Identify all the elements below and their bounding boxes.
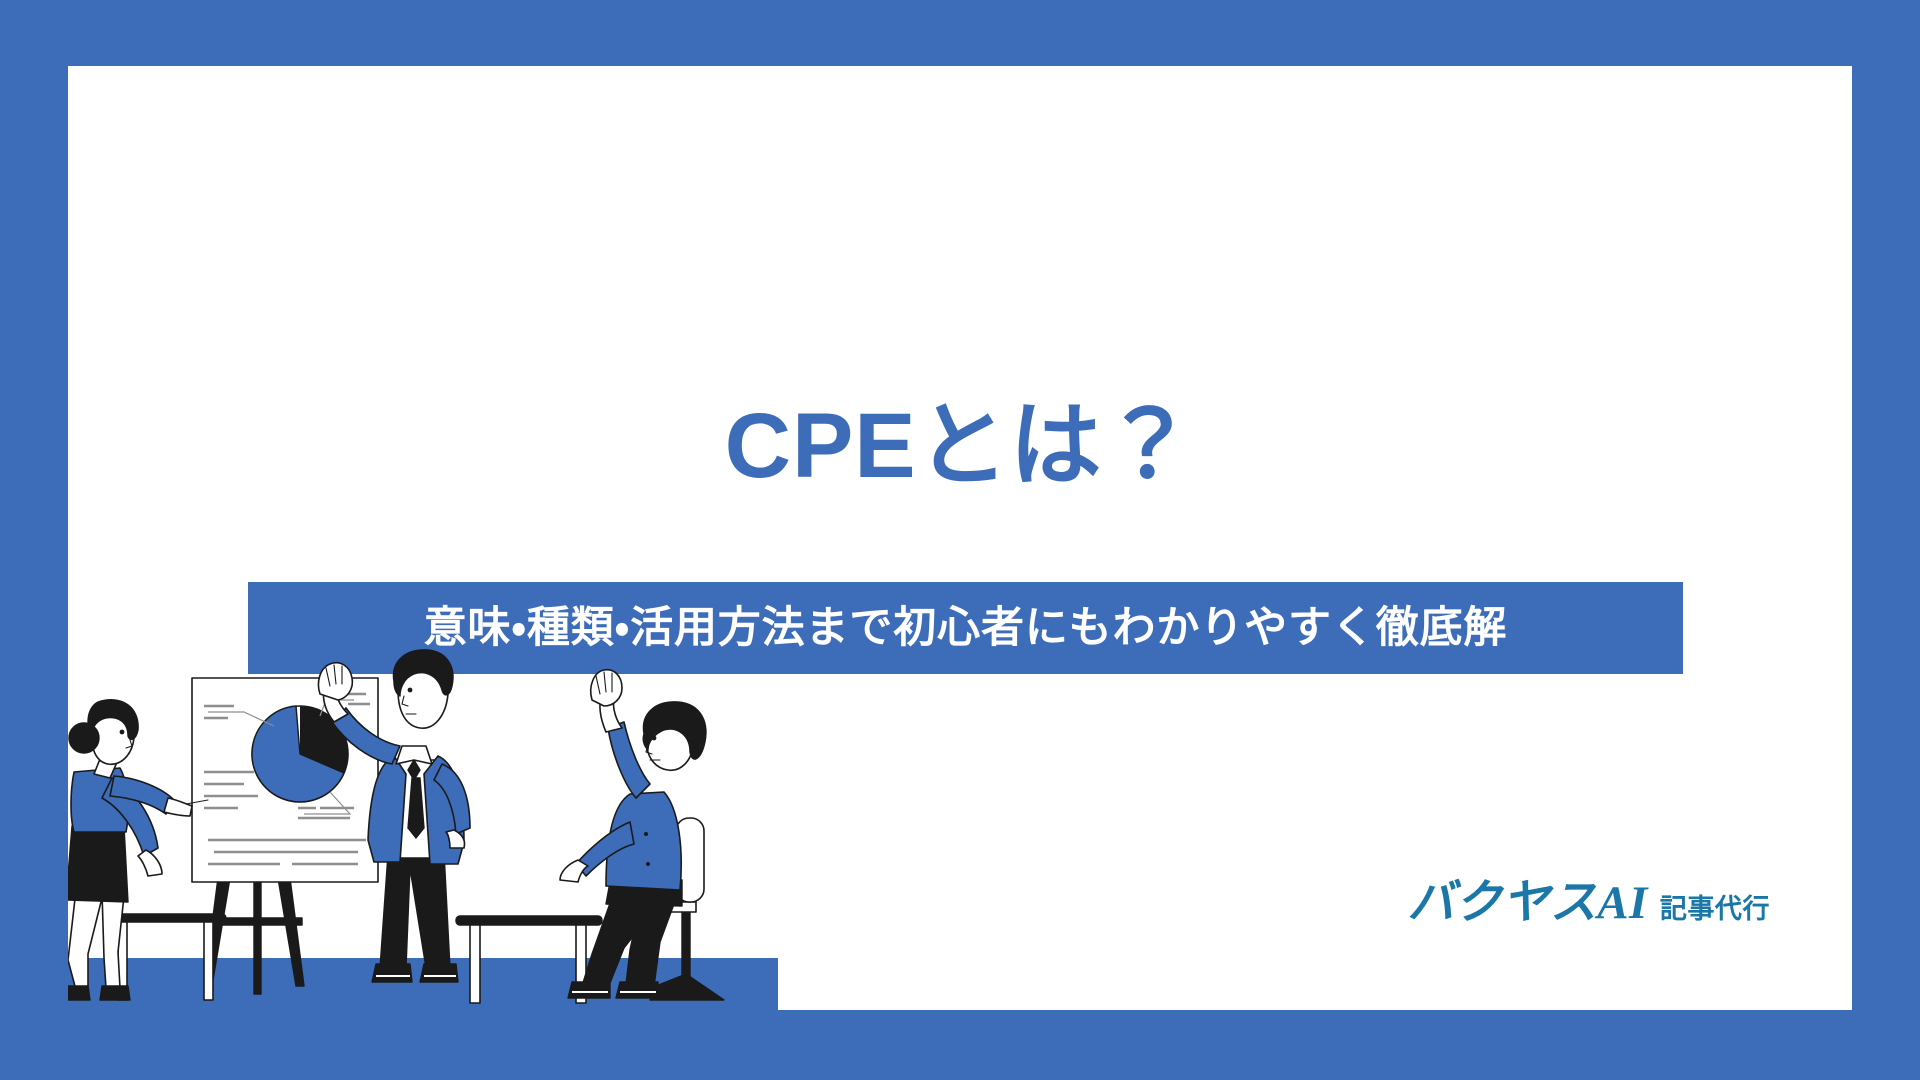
brand-logo: バクヤスAI 記事代行: [1407, 863, 1770, 932]
brand-logo-sub: 記事代行: [1660, 887, 1770, 926]
business-presentation-illustration: .ln { fill:none; stroke:#1a1a1a; stroke-…: [68, 642, 778, 1010]
slide-background: CPEとは？ 意味・種類・活用方法まで初心者にもわかりやすく徹底解 バクヤスAI…: [0, 0, 1920, 1080]
content-card: CPEとは？ 意味・種類・活用方法まで初心者にもわかりやすく徹底解 バクヤスAI…: [68, 66, 1852, 1010]
woman-pointing-at-easel: [68, 700, 208, 1000]
brand-logo-main: バクヤスAI: [1407, 863, 1647, 932]
page-title: CPEとは？: [68, 396, 1852, 497]
